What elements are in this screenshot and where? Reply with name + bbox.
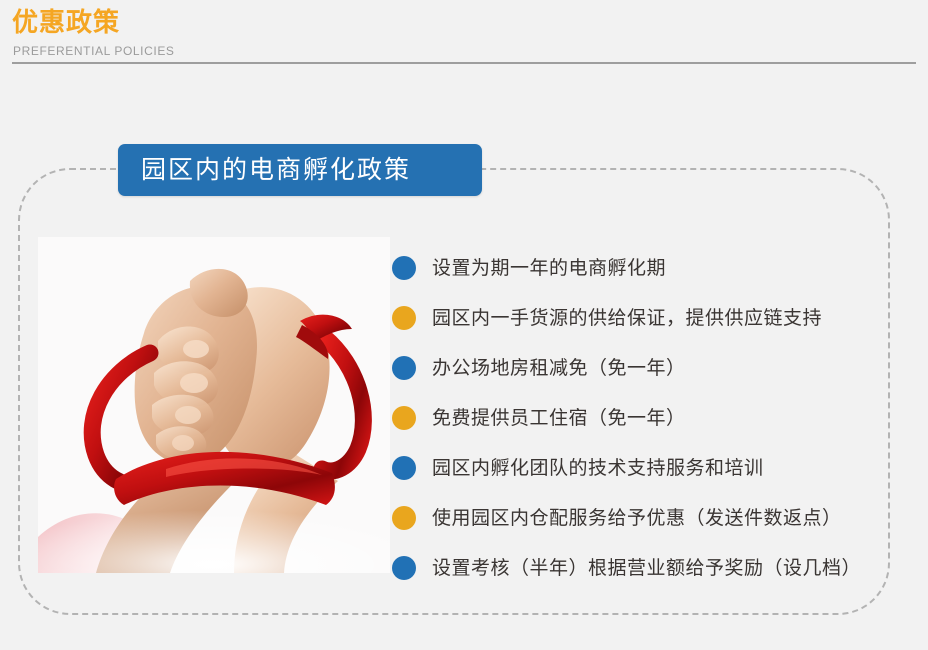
list-item: 园区内孵化团队的技术支持服务和培训 [392, 443, 892, 493]
list-item-label: 办公场地房租减免（免一年） [432, 355, 686, 381]
policy-bullet-list: 设置为期一年的电商孵化期 园区内一手货源的供给保证，提供供应链支持 办公场地房租… [392, 243, 892, 593]
list-item: 设置为期一年的电商孵化期 [392, 243, 892, 293]
bullet-dot-icon [392, 356, 416, 380]
list-item: 办公场地房租减免（免一年） [392, 343, 892, 393]
list-item: 使用园区内仓配服务给予优惠（发送件数返点） [392, 493, 892, 543]
page-header: 优惠政策 PREFERENTIAL POLICIES [0, 0, 928, 70]
bullet-dot-icon [392, 456, 416, 480]
list-item-label: 园区内一手货源的供给保证，提供供应链支持 [432, 305, 822, 331]
list-item-label: 使用园区内仓配服务给予优惠（发送件数返点） [432, 505, 842, 531]
list-item-label: 设置为期一年的电商孵化期 [432, 255, 666, 281]
header-divider [12, 62, 916, 64]
list-item: 设置考核（半年）根据营业额给予奖励（设几档） [392, 543, 892, 593]
list-item-label: 设置考核（半年）根据营业额给予奖励（设几档） [432, 555, 861, 581]
list-item-label: 免费提供员工住宿（免一年） [432, 405, 686, 431]
bullet-dot-icon [392, 406, 416, 430]
page-subtitle: PREFERENTIAL POLICIES [13, 44, 175, 58]
section-title-label: 园区内的电商孵化政策 [118, 155, 411, 185]
section-title-banner: 园区内的电商孵化政策 [118, 144, 482, 196]
bullet-dot-icon [392, 556, 416, 580]
bullet-dot-icon [392, 306, 416, 330]
bullet-dot-icon [392, 256, 416, 280]
list-item: 免费提供员工住宿（免一年） [392, 393, 892, 443]
list-item: 园区内一手货源的供给保证，提供供应链支持 [392, 293, 892, 343]
list-item-label: 园区内孵化团队的技术支持服务和培训 [432, 455, 764, 481]
clasped-hands-with-red-ribbon-image [38, 237, 390, 573]
page-title: 优惠政策 [12, 6, 120, 40]
bullet-dot-icon [392, 506, 416, 530]
photo-illustration [38, 237, 390, 573]
